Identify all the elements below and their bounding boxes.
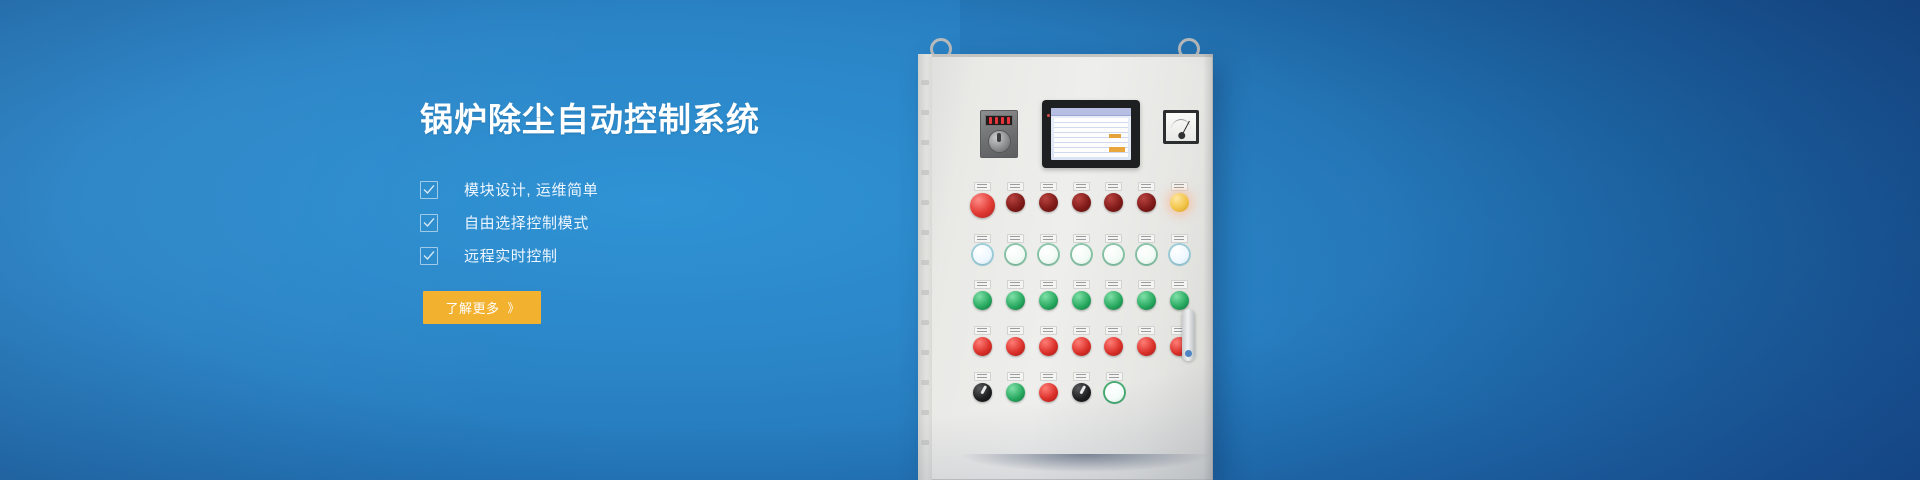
lamp-cell (966, 372, 999, 402)
lamp-cell (1097, 234, 1130, 264)
lamp-label-tag (1171, 182, 1188, 191)
indicator-lamp-red[interactable] (1039, 337, 1058, 356)
indicator-lamp-amber[interactable] (1170, 193, 1189, 212)
lamp-cell (1032, 234, 1065, 264)
lamp-label-tag (1105, 326, 1122, 335)
chevron-right-icon: 》 (508, 299, 519, 316)
lamp-label-tag (1105, 280, 1122, 289)
indicator-lamp-green[interactable] (1170, 291, 1189, 310)
lamp-cell (1163, 182, 1196, 218)
lamp-label-tag (1105, 182, 1122, 191)
lamp-cell (966, 326, 999, 356)
lamp-cell (1097, 280, 1130, 310)
lamp-label-tag (1040, 280, 1057, 289)
indicator-lamp-green[interactable] (973, 291, 992, 310)
lamp-label-tag (1171, 280, 1188, 289)
list-item: 自由选择控制模式 (420, 207, 980, 240)
hmi-highlight-cell (1109, 147, 1125, 152)
lamp-cell (966, 182, 999, 218)
lamp-cell (999, 372, 1032, 402)
lamp-cell (1130, 326, 1163, 356)
indicator-lamp-white[interactable] (1039, 245, 1058, 264)
lamp-label-tag (1073, 326, 1090, 335)
lamp-label-tag (1040, 234, 1057, 243)
indicator-lamp-green[interactable] (1006, 291, 1025, 310)
analog-panel-meter (1163, 110, 1199, 144)
hmi-title-bar (1051, 108, 1131, 116)
indicator-lamp-red[interactable] (1137, 193, 1156, 212)
lamp-cell (999, 182, 1032, 218)
indicator-lamp-white[interactable] (1006, 245, 1025, 264)
lamp-label-tag (1138, 326, 1155, 335)
lamp-label-tag (974, 326, 991, 335)
list-item-label: 自由选择控制模式 (464, 216, 589, 231)
hmi-touch-screen[interactable] (1042, 100, 1140, 168)
list-item: 远程实时控制 (420, 240, 980, 273)
lamp-cell (1065, 326, 1098, 356)
cabinet-body (918, 54, 1213, 480)
lamp-cell (1163, 280, 1196, 310)
indicator-lamp-green-ring[interactable] (1105, 383, 1124, 402)
indicator-lamp-white[interactable] (1170, 245, 1189, 264)
cabinet-top-edge (918, 54, 1213, 57)
list-item: 模块设计, 运维简单 (420, 174, 980, 207)
lamp-cell (1097, 326, 1130, 356)
lamp-label-tag (1007, 326, 1024, 335)
cabinet-door-handle[interactable] (1182, 309, 1195, 361)
indicator-lamp-red[interactable] (1104, 337, 1123, 356)
lamp-label-tag (1040, 182, 1057, 191)
indicator-lamp-green[interactable] (1072, 291, 1091, 310)
seven-segment-display (985, 115, 1013, 126)
lamp-label-tag (1040, 372, 1057, 381)
indicator-lamp-red[interactable] (1006, 193, 1025, 212)
lamp-label-tag (974, 280, 991, 289)
indicator-lamp-green[interactable] (1104, 291, 1123, 310)
lamp-label-tag (1040, 326, 1057, 335)
cabinet-right-shadow (1203, 54, 1213, 480)
lamp-cell (1032, 182, 1065, 218)
indicator-lamp-grid (966, 182, 1196, 418)
indicator-lamp-red[interactable] (1137, 337, 1156, 356)
emergency-stop-button[interactable] (970, 193, 995, 218)
lamp-cell (1130, 280, 1163, 310)
lamp-cell (966, 280, 999, 310)
hero-banner: 锅炉除尘自动控制系统 模块设计, 运维简单 自由选择控制模式 (0, 0, 1920, 480)
lamp-cell (1065, 234, 1098, 264)
lamp-cell (1065, 280, 1098, 310)
lamp-label-tag (1073, 234, 1090, 243)
lamp-label-tag (1007, 372, 1024, 381)
list-item-label: 远程实时控制 (464, 249, 558, 264)
lamp-label-tag (1105, 234, 1122, 243)
control-cabinet-image (900, 0, 1300, 480)
lamp-row-selectors (966, 372, 1196, 402)
power-led-icon (1047, 114, 1050, 117)
cabinet-hinge-strip (918, 54, 932, 480)
meter-face (1166, 113, 1196, 141)
indicator-lamp-red[interactable] (1072, 337, 1091, 356)
feature-list: 模块设计, 运维简单 自由选择控制模式 远程实时控制 (420, 174, 980, 273)
lamp-row-green (966, 280, 1196, 310)
indicator-lamp-white[interactable] (1137, 245, 1156, 264)
lamp-cell (1163, 234, 1196, 264)
lamp-cell (1098, 372, 1131, 402)
lamp-cell (999, 326, 1032, 356)
indicator-lamp-red[interactable] (1104, 193, 1123, 212)
lamp-label-tag (974, 234, 991, 243)
meter-needle (1181, 121, 1190, 136)
indicator-lamp-green[interactable] (1137, 291, 1156, 310)
indicator-lamp-green[interactable] (1039, 291, 1058, 310)
lamp-cell (999, 234, 1032, 264)
list-item-label: 模块设计, 运维简单 (464, 183, 598, 198)
banner-content: 锅炉除尘自动控制系统 模块设计, 运维简单 自由选择控制模式 (420, 100, 980, 324)
indicator-lamp-red[interactable] (1072, 193, 1091, 212)
lamp-cell (1130, 234, 1163, 264)
lamp-cell (1032, 372, 1065, 402)
indicator-lamp-white[interactable] (973, 245, 992, 264)
checkbox-checked-icon (420, 247, 438, 265)
indicator-lamp-red[interactable] (1039, 383, 1058, 402)
lamp-row-white (966, 234, 1196, 264)
learn-more-button[interactable]: 了解更多 》 (423, 291, 541, 324)
lamp-label-tag (1171, 234, 1188, 243)
lamp-row-emergency (966, 182, 1196, 218)
cabinet-floor-shadow (905, 454, 1265, 480)
lamp-cell (999, 280, 1032, 310)
lamp-cell (1065, 372, 1098, 402)
selector-switch[interactable] (1072, 383, 1091, 402)
digital-drive-module[interactable] (980, 110, 1018, 158)
checkbox-checked-icon (420, 181, 438, 199)
indicator-lamp-white[interactable] (1072, 245, 1091, 264)
lamp-label-tag (1138, 234, 1155, 243)
lamp-label-tag (1073, 182, 1090, 191)
lamp-label-tag (974, 372, 991, 381)
lamp-cell (1032, 326, 1065, 356)
lamp-label-tag (1073, 280, 1090, 289)
lamp-label-tag (1007, 234, 1024, 243)
lamp-cell (1130, 182, 1163, 218)
lamp-label-tag (1007, 182, 1024, 191)
lamp-cell (1032, 280, 1065, 310)
indicator-lamp-green[interactable] (1006, 383, 1025, 402)
lamp-row-red (966, 326, 1196, 356)
lamp-label-tag (1007, 280, 1024, 289)
lamp-label-tag (1106, 372, 1123, 381)
lamp-label-tag (1138, 182, 1155, 191)
indicator-lamp-red[interactable] (1006, 337, 1025, 356)
lamp-label-tag (1138, 280, 1155, 289)
hmi-highlight-cell (1109, 134, 1121, 138)
lamp-cell (1065, 182, 1098, 218)
lamp-cell (966, 234, 999, 264)
page-title: 锅炉除尘自动控制系统 (420, 100, 980, 140)
checkbox-checked-icon (420, 214, 438, 232)
indicator-lamp-red[interactable] (973, 337, 992, 356)
lamp-cell (1097, 182, 1130, 218)
indicator-lamp-white[interactable] (1104, 245, 1123, 264)
indicator-lamp-red[interactable] (1039, 193, 1058, 212)
learn-more-label: 了解更多 (445, 298, 499, 317)
hmi-screen-surface[interactable] (1051, 108, 1131, 160)
lamp-label-tag (1073, 372, 1090, 381)
lamp-label-tag (974, 182, 991, 191)
rotary-knob[interactable] (989, 131, 1010, 152)
selector-switch[interactable] (973, 383, 992, 402)
